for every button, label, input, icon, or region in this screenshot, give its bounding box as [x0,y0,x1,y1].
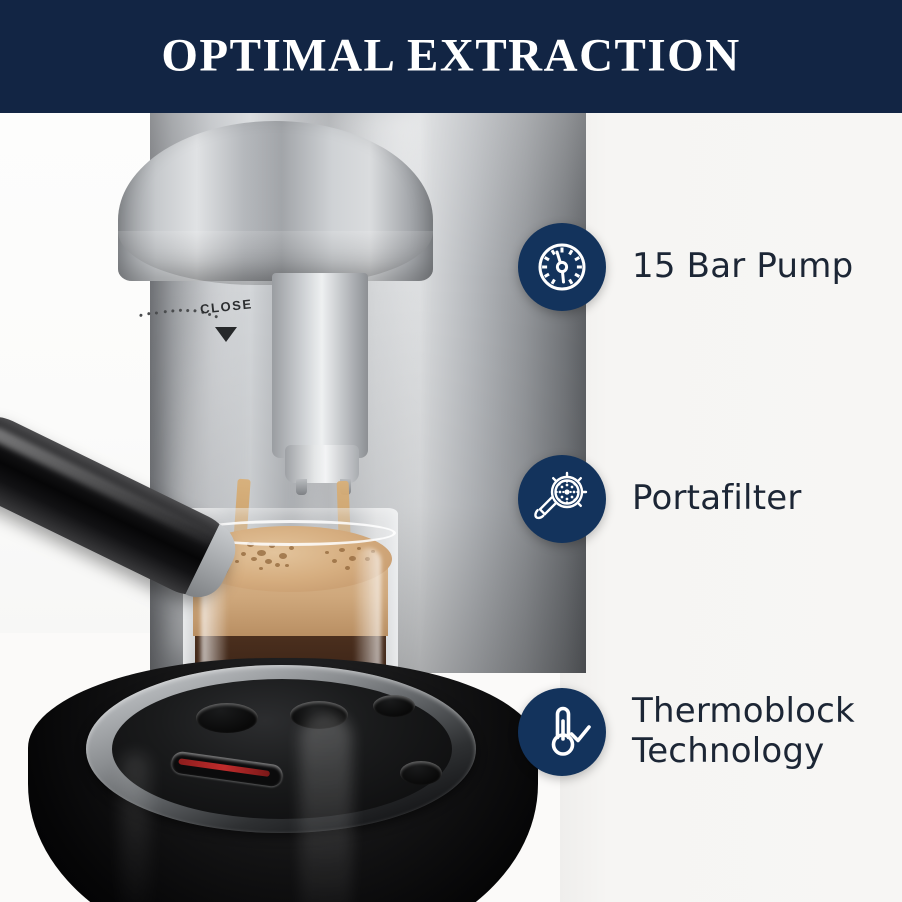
feature-label-thermoblock: Thermoblock Technology [632,692,855,772]
thermometer-check-icon [518,688,606,776]
page-title: OPTIMAL EXTRACTION [0,32,902,79]
portafilter-icon [518,455,606,543]
feature-label-pump: 15 Bar Pump [632,247,853,287]
product-feature-graphic: CLOSE De'Longhi [0,0,902,902]
pressure-gauge-icon [518,223,606,311]
header-banner: OPTIMAL EXTRACTION [0,0,902,113]
feature-item-thermoblock: Thermoblock Technology [518,688,855,776]
feature-item-pump: 15 Bar Pump [518,223,853,311]
feature-item-portafilter: Portafilter [518,455,802,543]
feature-label-portafilter: Portafilter [632,479,802,519]
feature-list: 15 Bar Pump [0,113,902,902]
